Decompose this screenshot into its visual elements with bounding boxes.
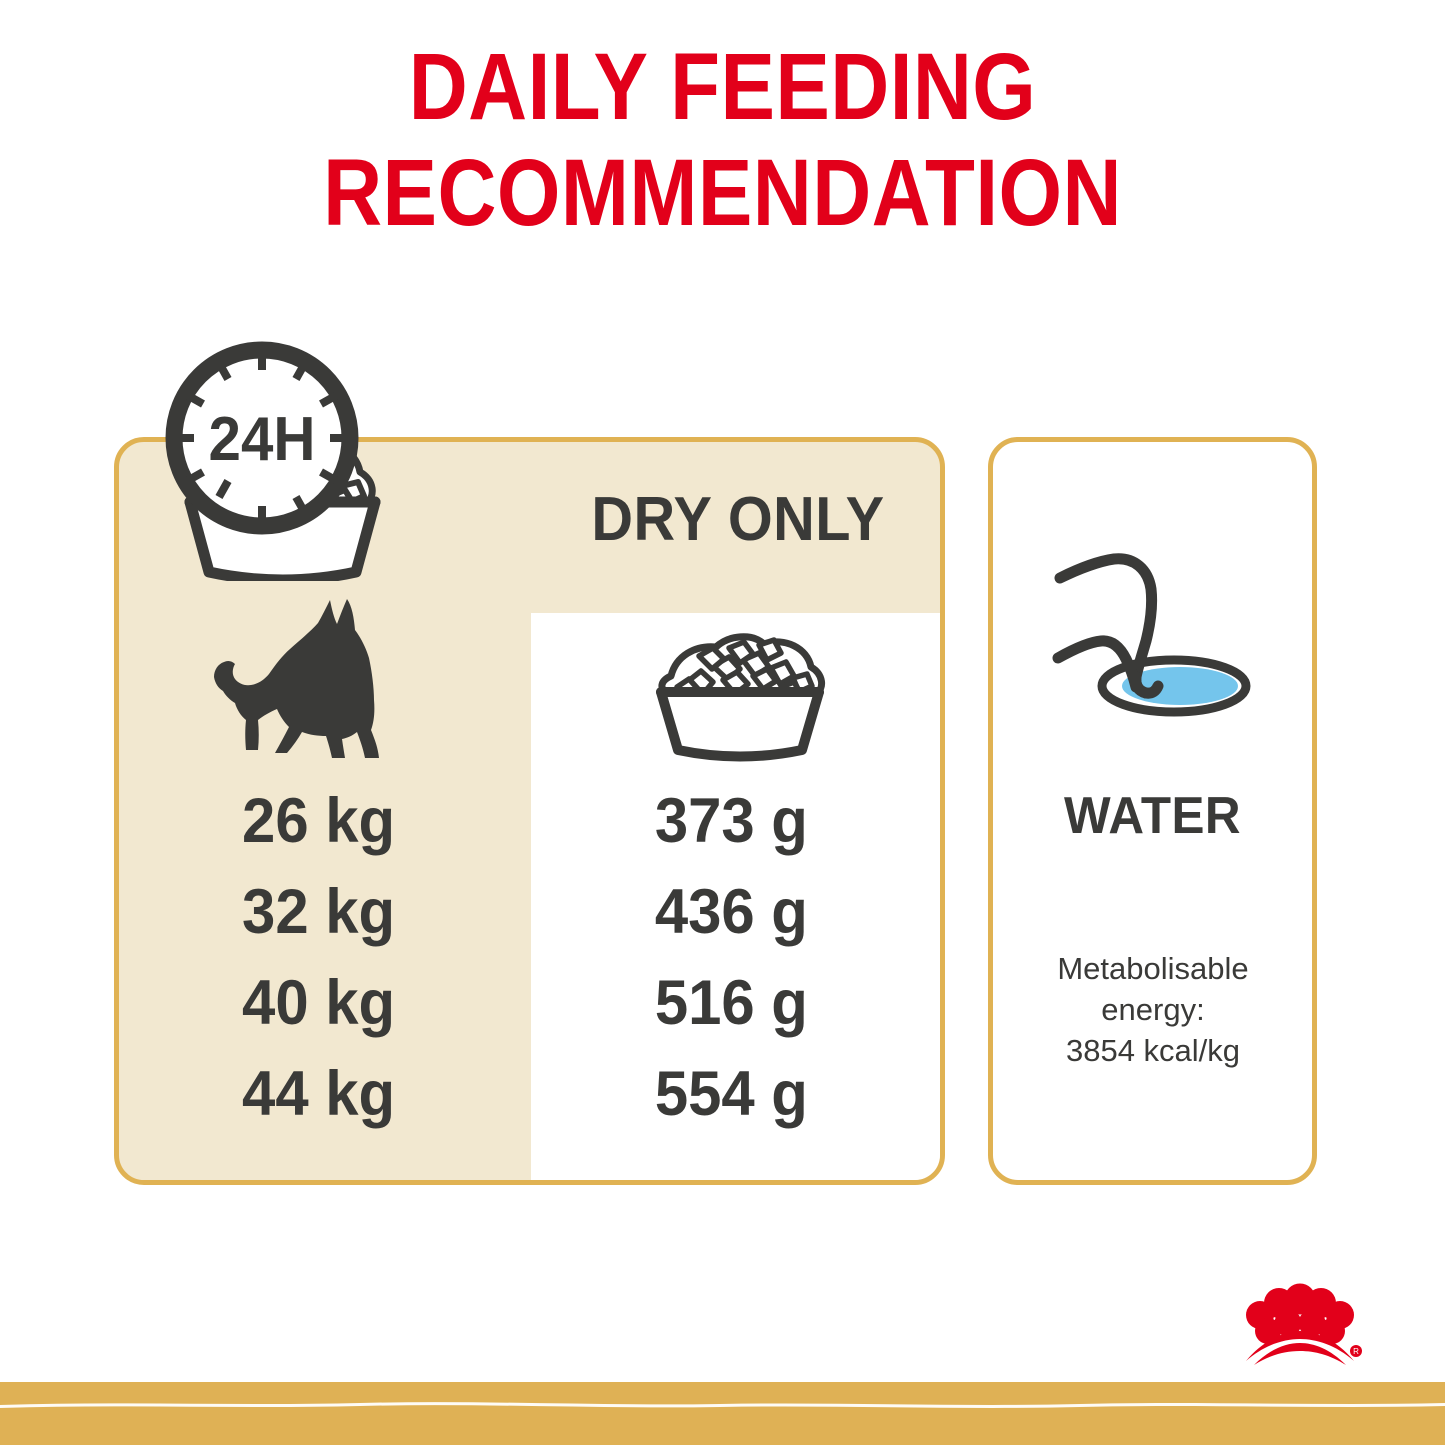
table-row: 44 kg 554 g [114,1063,945,1154]
royal-canin-logo: R [1234,1281,1365,1365]
registered-mark-text: R [1353,1347,1359,1356]
table-row: 26 kg 373 g [114,790,945,881]
table-row: 32 kg 436 g [114,881,945,972]
dry-amount-value: 436 g [541,881,934,944]
table-row: 40 kg 516 g [114,972,945,1063]
dog-drinking-water-icon [1052,545,1262,730]
dog-weight-value: 44 kg [129,1063,416,1126]
dog-weight-value: 32 kg [129,881,416,944]
dog-silhouette-icon [206,596,421,781]
dog-weight-value: 26 kg [129,790,416,853]
feeding-table: 26 kg 373 g 32 kg 436 g 40 kg 516 g 44 k… [114,790,945,1154]
dry-food-bowl-icon [625,630,851,762]
bottom-gold-band [0,1382,1445,1445]
dry-only-header: DRY ONLY [545,484,930,555]
dry-amount-value: 554 g [541,1063,934,1126]
water-label: WATER [996,786,1309,846]
metabolisable-energy-text: Metabolisable energy: 3854 kcal/kg [1000,948,1306,1072]
dog-weight-value: 40 kg [129,972,416,1035]
dry-amount-value: 516 g [541,972,934,1035]
24h-clock-bowl-icon: 24H [150,336,415,581]
dry-amount-value: 373 g [541,790,934,853]
24h-badge-text: 24H [209,404,316,473]
page-title: DAILY FEEDING RECOMMENDATION [101,34,1344,247]
